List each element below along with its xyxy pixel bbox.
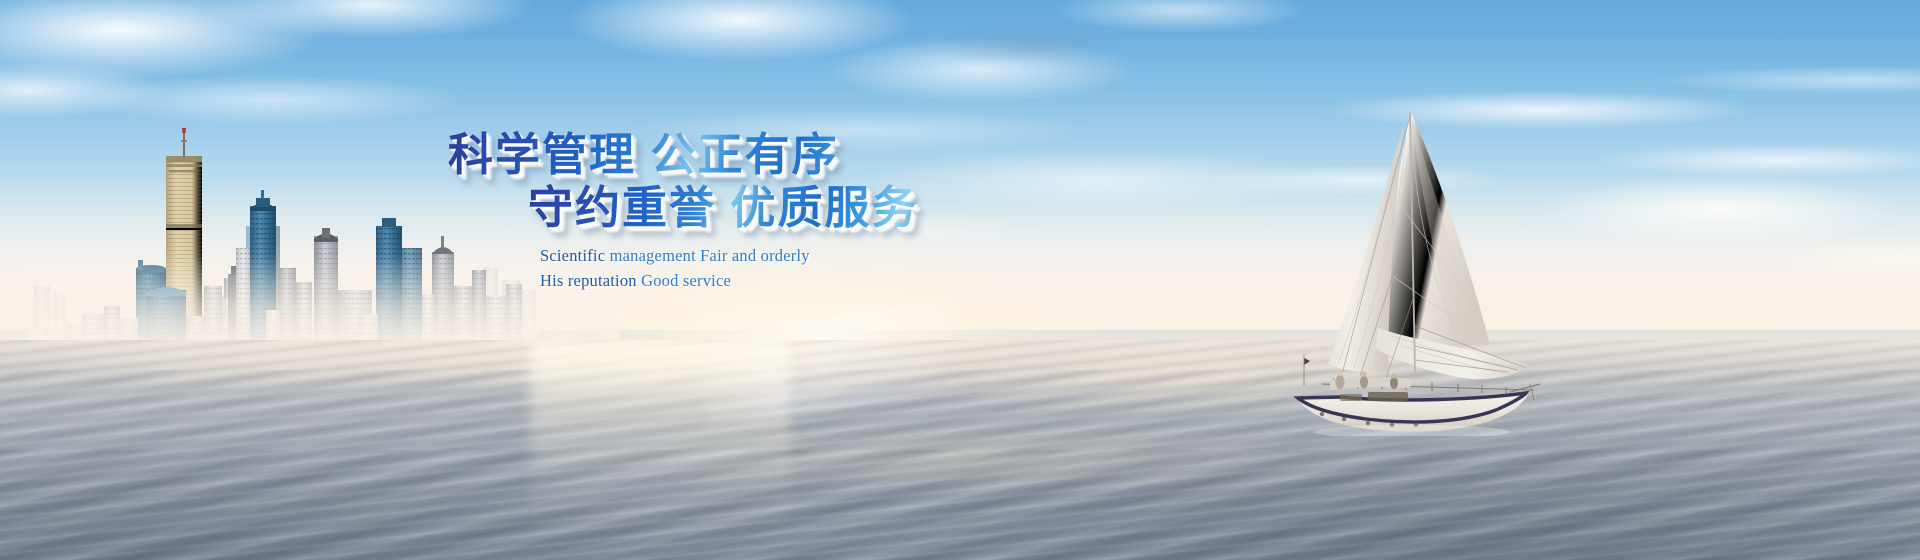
subtitle-line-2-part-1: His reputation (540, 271, 641, 290)
subtitle-line-1-part-2: management Fair and orderly (610, 246, 810, 265)
water-vignette (0, 340, 1920, 560)
subtitle-line-2-part-2: Good service (641, 271, 731, 290)
subtitle-block: Scientific management Fair and orderly H… (540, 243, 810, 293)
ocean-water (0, 340, 1920, 560)
subtitle-line-1-part-1: Scientific (540, 246, 610, 265)
headline-block: 科学管理 公正有序 守约重誉 优质服务 (448, 128, 968, 234)
subtitle-line-2: His reputation Good service (540, 268, 810, 293)
hero-banner: 科学管理 公正有序 守约重誉 优质服务 Scientific managemen… (0, 0, 1920, 560)
headline-line-1: 科学管理 公正有序 (448, 128, 968, 181)
headline-line-2: 守约重誉 优质服务 (528, 181, 968, 234)
subtitle-line-1: Scientific management Fair and orderly (540, 243, 810, 268)
sailboat (1282, 96, 1572, 436)
